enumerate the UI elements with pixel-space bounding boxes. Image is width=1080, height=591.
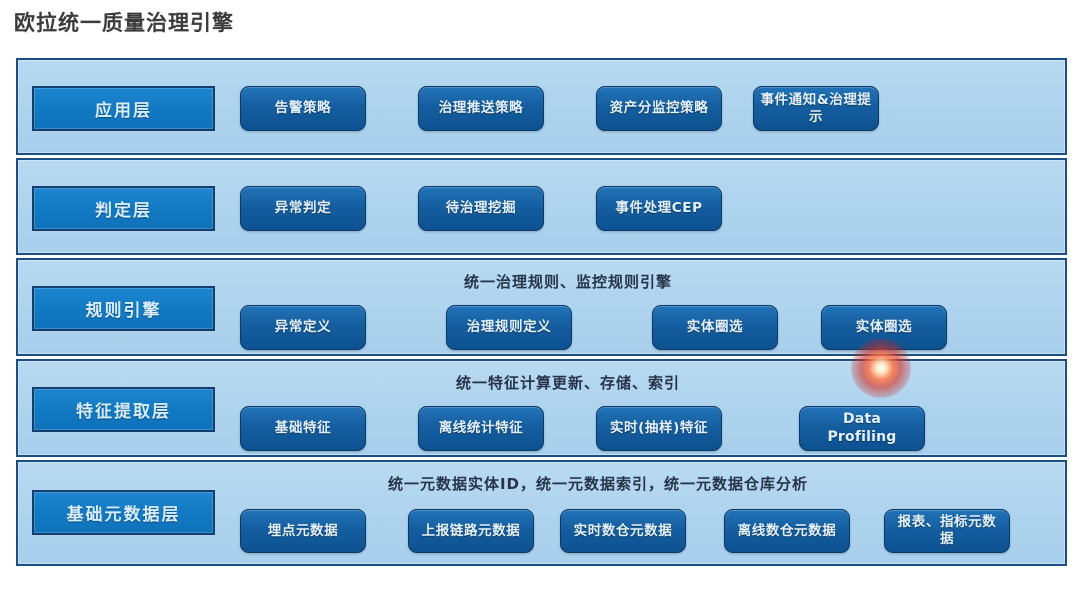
layer-row-feature-extraction: 特征提取层 统一特征计算更新、存储、索引 基础特征 离线统计特征 实时(抽样)特…	[16, 359, 1067, 457]
item-governance-rule-definition[interactable]: 治理规则定义	[446, 305, 572, 350]
page-title: 欧拉统一质量治理引擎	[14, 8, 234, 38]
item-event-processing-cep[interactable]: 事件处理CEP	[596, 186, 722, 231]
item-anomaly-judgement[interactable]: 异常判定	[240, 186, 366, 231]
item-event-notify-tip[interactable]: 事件通知&治理提示	[753, 86, 879, 131]
layer-label-judgement[interactable]: 判定层	[32, 186, 215, 231]
item-realtime-sampling-feature[interactable]: 实时(抽样)特征	[596, 406, 722, 451]
item-pending-governance-mining[interactable]: 待治理挖掘	[418, 186, 544, 231]
layer-label-base-metadata[interactable]: 基础元数据层	[32, 490, 215, 535]
item-data-profiling[interactable]: Data Profiling	[799, 406, 925, 451]
caption-feature-extraction: 统一特征计算更新、存储、索引	[218, 372, 918, 393]
item-alert-policy[interactable]: 告警策略	[240, 86, 366, 131]
item-anomaly-definition[interactable]: 异常定义	[240, 305, 366, 350]
item-asset-monitor-policy[interactable]: 资产分监控策略	[596, 86, 722, 131]
layer-row-rule-engine: 规则引擎 统一治理规则、监控规则引擎 异常定义 治理规则定义 实体圈选 实体圈选	[16, 258, 1067, 356]
item-realtime-warehouse-metadata[interactable]: 实时数仓元数据	[560, 509, 686, 553]
layer-row-judgement: 判定层 异常判定 待治理挖掘 事件处理CEP	[16, 158, 1067, 255]
caption-base-metadata: 统一元数据实体ID，统一元数据索引，统一元数据仓库分析	[218, 473, 978, 494]
item-entity-selection-1[interactable]: 实体圈选	[652, 305, 778, 350]
architecture-diagram: 应用层 告警策略 治理推送策略 资产分监控策略 事件通知&治理提示 判定层 异常…	[16, 58, 1067, 566]
layer-label-application[interactable]: 应用层	[32, 86, 215, 131]
item-basic-feature[interactable]: 基础特征	[240, 406, 366, 451]
item-offline-warehouse-metadata[interactable]: 离线数仓元数据	[724, 509, 850, 553]
item-report-link-metadata[interactable]: 上报链路元数据	[408, 509, 534, 553]
item-governance-push-policy[interactable]: 治理推送策略	[418, 86, 544, 131]
layer-label-feature-extraction[interactable]: 特征提取层	[32, 387, 215, 432]
caption-rule-engine: 统一治理规则、监控规则引擎	[218, 271, 918, 292]
item-offline-statistic-feature[interactable]: 离线统计特征	[418, 406, 544, 451]
layer-label-rule-engine[interactable]: 规则引擎	[32, 286, 215, 331]
layer-row-application: 应用层 告警策略 治理推送策略 资产分监控策略 事件通知&治理提示	[16, 58, 1067, 155]
item-tracking-point-metadata[interactable]: 埋点元数据	[240, 509, 366, 553]
item-entity-selection-2[interactable]: 实体圈选	[821, 305, 947, 350]
item-report-indicator-metadata[interactable]: 报表、指标元数据	[884, 509, 1010, 553]
layer-row-base-metadata: 基础元数据层 统一元数据实体ID，统一元数据索引，统一元数据仓库分析 埋点元数据…	[16, 460, 1067, 566]
